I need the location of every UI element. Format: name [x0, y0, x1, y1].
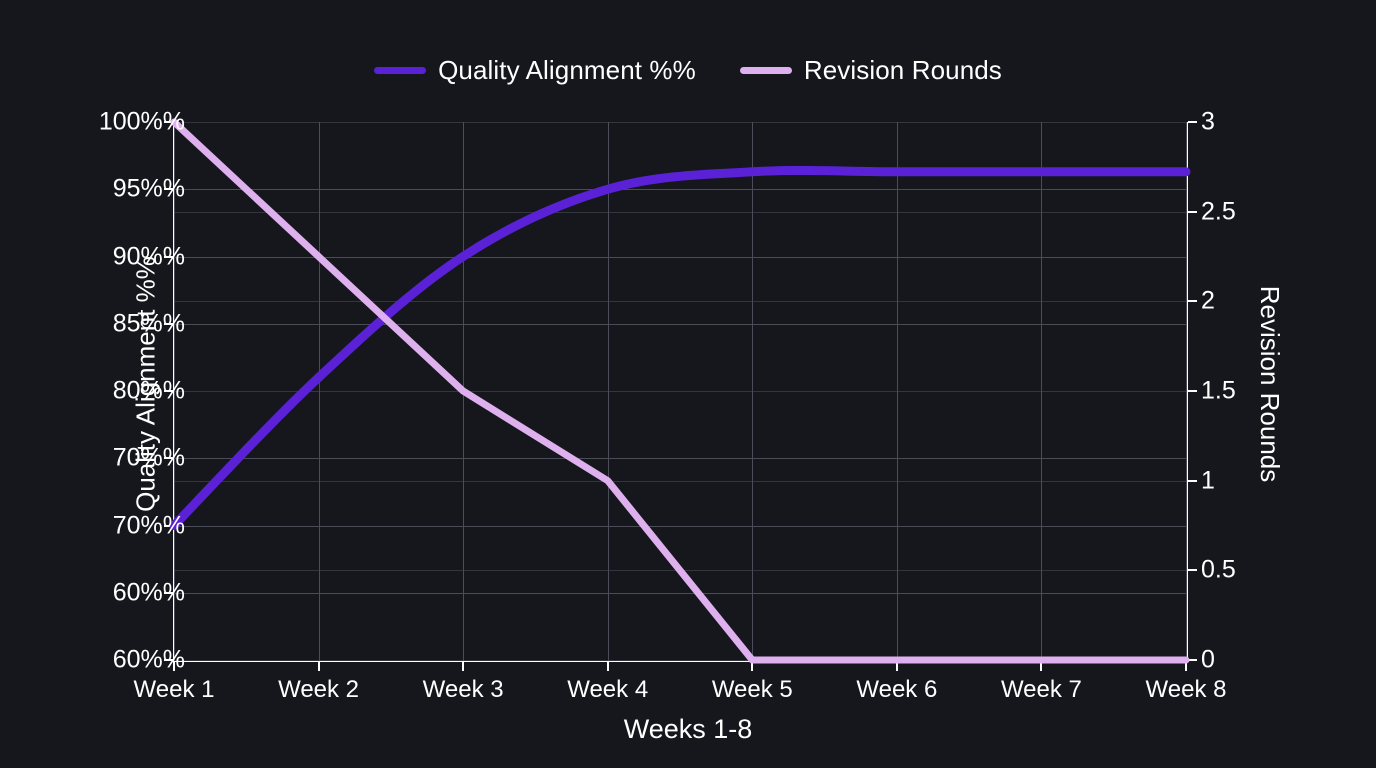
legend-label-quality-alignment: Quality Alignment %% [438, 55, 696, 86]
line-quality-alignment [174, 170, 1186, 525]
y-axis-right-title: Revision Rounds [1254, 286, 1285, 483]
data-lines [174, 122, 1187, 661]
y-axis-right-tick [1188, 211, 1197, 213]
y-axis-left-ticklabel: 90%% [113, 242, 185, 271]
x-axis-tick [607, 662, 609, 671]
y-axis-right-ticklabel: 3 [1201, 108, 1215, 137]
chart-legend: Quality Alignment %% Revision Rounds [0, 55, 1376, 86]
y-axis-right-tick [1188, 569, 1197, 571]
y-axis-left-ticklabel: 70%% [113, 511, 185, 540]
y-axis-right-tick [1188, 300, 1197, 302]
y-axis-right-ticklabel: 0 [1201, 646, 1215, 675]
x-axis-ticklabel: Week 5 [712, 676, 793, 704]
y-axis-left-ticklabel: 100%% [99, 108, 185, 137]
y-axis-left-ticklabel: 60%% [113, 646, 185, 675]
x-axis-ticklabel: Week 4 [567, 676, 648, 704]
legend-line-swatch-icon [740, 67, 792, 74]
y-axis-left-ticklabel: 60%% [113, 578, 185, 607]
x-axis-tick [462, 662, 464, 671]
y-axis-right-ticklabel: 1.5 [1201, 377, 1236, 406]
x-axis-ticklabel: Week 7 [1001, 676, 1082, 704]
x-axis-ticklabel: Week 8 [1146, 676, 1227, 704]
y-axis-left-ticklabel: 85%% [113, 309, 185, 338]
x-axis-ticklabel: Week 2 [278, 676, 359, 704]
y-axis-right-ticklabel: 1 [1201, 466, 1215, 495]
x-axis-ticklabel: Week 1 [134, 676, 215, 704]
y-axis-right-tick [1188, 121, 1197, 123]
line-revision-rounds [174, 122, 1186, 660]
y-axis-right-ticklabel: 2 [1201, 287, 1215, 316]
legend-line-swatch-icon [374, 67, 426, 74]
x-axis-tick [318, 662, 320, 671]
x-axis-ticklabel: Week 6 [856, 676, 937, 704]
y-axis-left-ticklabel: 95%% [113, 175, 185, 204]
y-axis-right-tick [1188, 390, 1197, 392]
y-axis-right-ticklabel: 2.5 [1201, 197, 1236, 226]
chart-figure: Quality Alignment %% Revision Rounds Qua… [0, 0, 1376, 768]
y-axis-right-tick [1188, 480, 1197, 482]
x-axis-title: Weeks 1-8 [0, 714, 1376, 745]
legend-label-revision-rounds: Revision Rounds [804, 55, 1002, 86]
legend-item-revision-rounds[interactable]: Revision Rounds [740, 55, 1002, 86]
y-axis-left-ticklabel: 80%% [113, 377, 185, 406]
y-axis-left-ticklabel: 70%% [113, 444, 185, 473]
x-axis-ticklabel: Week 3 [423, 676, 504, 704]
legend-item-quality-alignment[interactable]: Quality Alignment %% [374, 55, 696, 86]
plot-area [174, 122, 1187, 661]
y-axis-right-ticklabel: 0.5 [1201, 556, 1236, 585]
